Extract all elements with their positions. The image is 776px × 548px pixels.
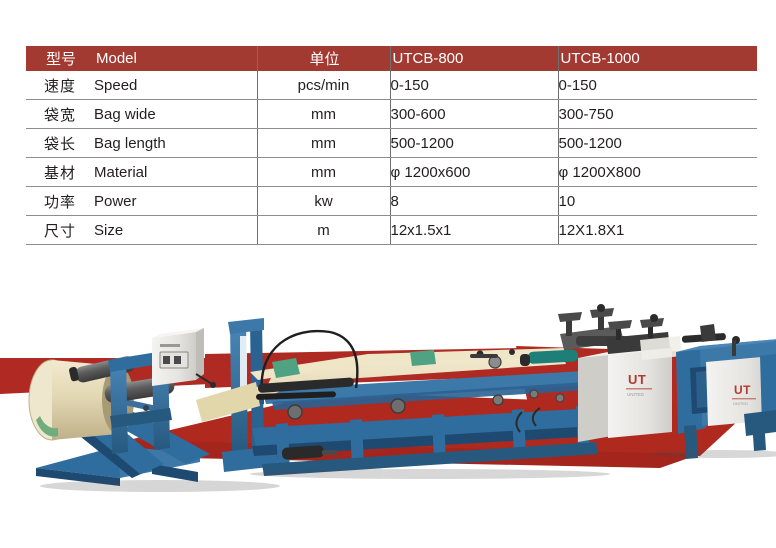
cell-value-model1: 500-1200 bbox=[390, 129, 558, 158]
header-label-unit: 单位 bbox=[258, 48, 390, 69]
cell-value-model2: φ 1200X800 bbox=[558, 158, 757, 187]
header-cell-unit: 单位 bbox=[257, 46, 390, 71]
table-row: 速度 Speed pcs/min 0-150 0-150 bbox=[26, 71, 757, 100]
cell-value-model1: φ 1200x600 bbox=[390, 158, 558, 187]
cutter-handwheel bbox=[650, 314, 658, 322]
table-row: 功率 Power kw 8 10 bbox=[26, 187, 757, 216]
header-label-model2: UTCB-1000 bbox=[559, 50, 758, 67]
cell-spec-name-cn: 功率 bbox=[26, 187, 94, 216]
cell-value-model1: 300-600 bbox=[390, 100, 558, 129]
cutter-guard bbox=[640, 336, 682, 360]
specification-table: 型号 Model 单位 UTCB-800 UTCB-1000 速度 Speed bbox=[26, 46, 757, 245]
print-handwheel bbox=[597, 304, 605, 312]
cell-value-model1: 8 bbox=[390, 187, 558, 216]
bed-roller-2 bbox=[391, 399, 405, 413]
fold-feed-post bbox=[700, 324, 716, 342]
stand-post-left bbox=[110, 358, 128, 454]
table-row: 袋长 Bag length mm 500-1200 500-1200 bbox=[26, 129, 757, 158]
header-label-model-en: Model bbox=[94, 50, 257, 67]
cell-value-model1: 12x1.5x1 bbox=[390, 216, 558, 245]
table-row: 尺寸 Size m 12x1.5x1 12X1.8X1 bbox=[26, 216, 757, 245]
cell-unit: mm bbox=[257, 100, 390, 129]
cell-value-model1: 0-150 bbox=[390, 71, 558, 100]
table-row: 袋宽 Bag wide mm 300-600 300-750 bbox=[26, 100, 757, 129]
header-cell-model-en: Model bbox=[94, 46, 257, 71]
cell-value-model2: 0-150 bbox=[558, 71, 757, 100]
cell-spec-name-cn: 袋长 bbox=[26, 129, 94, 158]
spec-table-element: 型号 Model 单位 UTCB-800 UTCB-1000 速度 Speed bbox=[26, 46, 757, 245]
cell-value-model2: 12X1.8X1 bbox=[558, 216, 757, 245]
control-digit-2 bbox=[174, 356, 181, 364]
svg-text:UNITED: UNITED bbox=[627, 392, 645, 397]
cell-spec-name-cn: 速度 bbox=[26, 71, 94, 100]
header-label-model-cn: 型号 bbox=[26, 48, 94, 69]
header-cell-model2: UTCB-1000 bbox=[558, 46, 757, 71]
upright-slot bbox=[240, 336, 247, 392]
header-row: 型号 Model 单位 UTCB-800 UTCB-1000 bbox=[26, 46, 757, 71]
header-cell-model1: UTCB-800 bbox=[390, 46, 558, 71]
cell-value-model2: 300-750 bbox=[558, 100, 757, 129]
cell-unit: mm bbox=[257, 158, 390, 187]
enclosure-side bbox=[578, 354, 612, 442]
svg-text:UNITED: UNITED bbox=[733, 401, 748, 406]
cell-spec-name-cn: 基材 bbox=[26, 158, 94, 187]
brand-logo-text: UT bbox=[628, 372, 646, 387]
table-header: 型号 Model 单位 UTCB-800 UTCB-1000 bbox=[26, 46, 757, 71]
bed-roller-1 bbox=[288, 405, 302, 419]
cell-spec-name-en: Size bbox=[94, 216, 257, 245]
table-row: 基材 Material mm φ 1200x600 φ 1200X800 bbox=[26, 158, 757, 187]
control-digit-1 bbox=[163, 356, 170, 364]
control-box-side bbox=[196, 328, 204, 380]
cell-spec-name-cn: 袋宽 bbox=[26, 100, 94, 129]
control-box bbox=[152, 328, 204, 386]
cell-spec-name-en: Material bbox=[94, 158, 257, 187]
cell-unit: mm bbox=[257, 129, 390, 158]
cell-value-model2: 500-1200 bbox=[558, 129, 757, 158]
cell-spec-name-en: Bag wide bbox=[94, 100, 257, 129]
cell-unit: kw bbox=[257, 187, 390, 216]
table-body: 速度 Speed pcs/min 0-150 0-150 袋宽 Bag wide… bbox=[26, 71, 757, 245]
cell-spec-name-cn: 尺寸 bbox=[26, 216, 94, 245]
gusset-mark-2 bbox=[410, 350, 436, 366]
cell-spec-name-en: Speed bbox=[94, 71, 257, 100]
header-cell-model-cn: 型号 bbox=[26, 46, 94, 71]
cell-value-model2: 10 bbox=[558, 187, 757, 216]
cell-spec-name-en: Power bbox=[94, 187, 257, 216]
machine-product-photo: UT UNITED UT UNITED bbox=[0, 296, 776, 548]
bed-roller-4 bbox=[493, 395, 503, 405]
machine-enclosure-front: UT UNITED bbox=[578, 346, 672, 442]
header-label-model1: UTCB-800 bbox=[391, 50, 558, 67]
brand-logo-text-2: UT bbox=[734, 383, 751, 397]
cell-unit: m bbox=[257, 216, 390, 245]
cell-unit: pcs/min bbox=[257, 71, 390, 100]
cell-spec-name-en: Bag length bbox=[94, 129, 257, 158]
